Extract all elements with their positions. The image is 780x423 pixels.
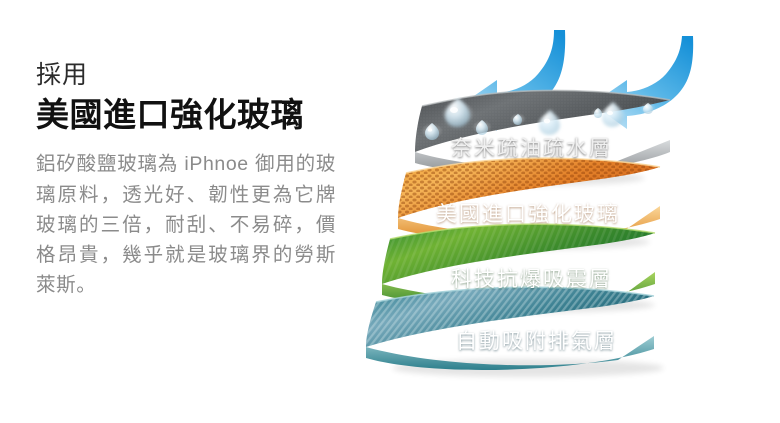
body-paragraph: 鋁矽酸鹽玻璃為 iPhnoe 御用的玻璃原料，透光好、韌性更為它牌玻璃的三倍，耐… [36,149,336,300]
eyebrow-text: 採用 [36,62,346,90]
infographic-canvas: 採用 美國進口強化玻璃 鋁矽酸鹽玻璃為 iPhnoe 御用的玻璃原料，透光好、韌… [0,0,780,423]
page-title: 美國進口強化玻璃 [36,96,346,134]
text-panel: 採用 美國進口強化玻璃 鋁矽酸鹽玻璃為 iPhnoe 御用的玻璃原料，透光好、韌… [36,62,346,301]
layer-stack-svg [360,0,780,423]
layer-auto-adhesive-air-release [366,287,664,377]
layer-stack-diagram: 奈米疏油疏水層 美國進口強化玻璃 科技抗爆吸震層 自動吸附排氣層 [360,0,780,423]
